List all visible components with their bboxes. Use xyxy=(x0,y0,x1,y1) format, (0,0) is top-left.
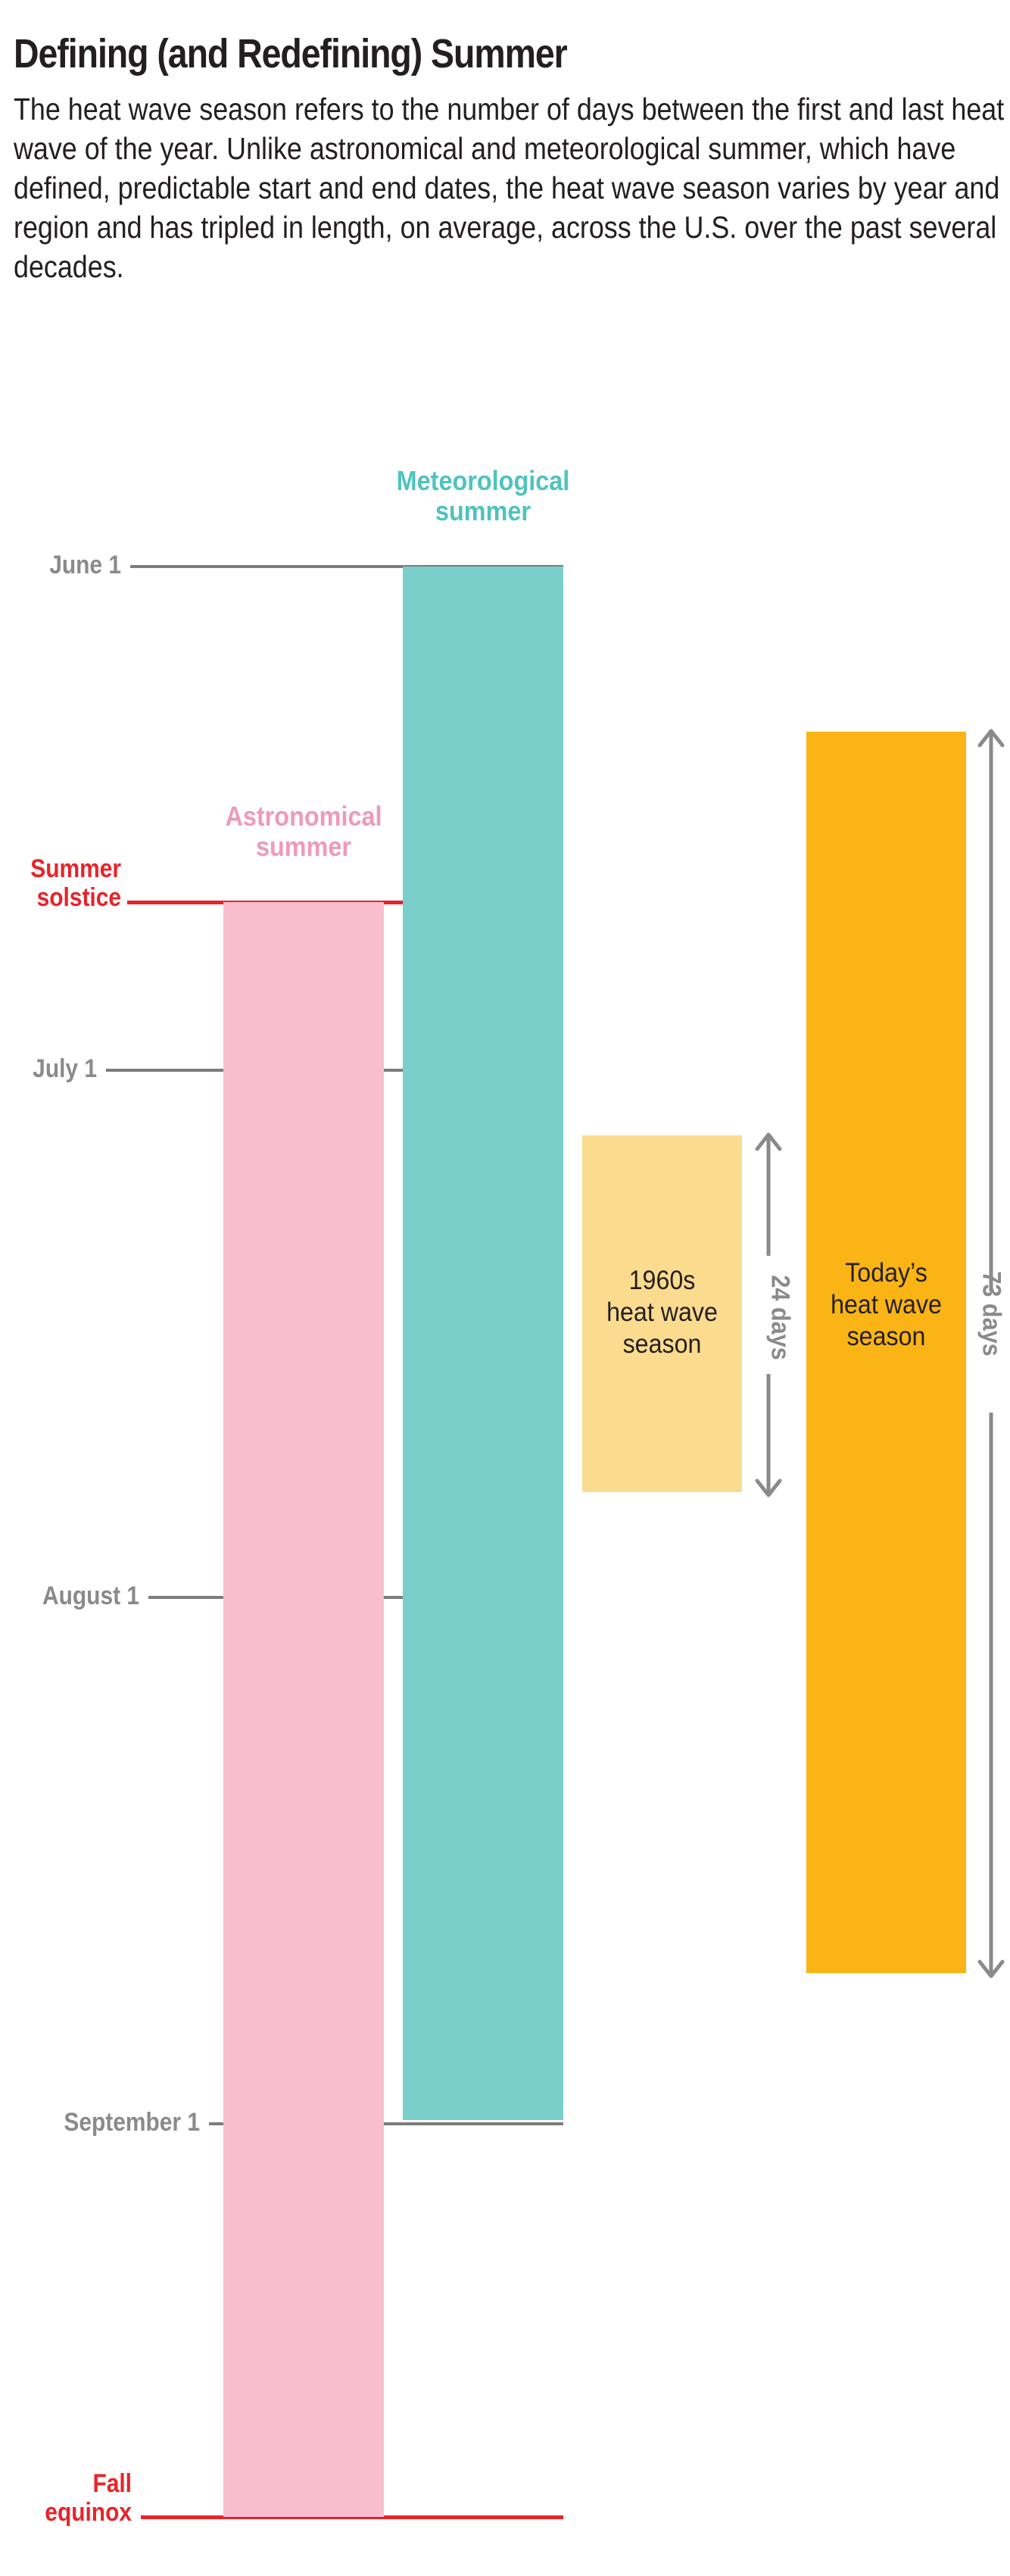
bar-astronomical-summer[interactable] xyxy=(223,902,384,2517)
label-1960s-line1: 1960s xyxy=(629,1266,696,1295)
axis-label-fall-equinox-line2: equinox xyxy=(45,2498,132,2527)
legend-astronomical-line2: summer xyxy=(256,831,351,862)
axis-label-summer-solstice: Summer solstice xyxy=(0,854,121,912)
label-today-line3: season xyxy=(847,1322,926,1351)
label-today-heat-wave-season: Today’s heat wave season xyxy=(812,1257,959,1353)
label-1960s-line2: heat wave xyxy=(606,1297,718,1327)
axis-label-summer-solstice-line2: solstice xyxy=(37,883,121,912)
measure-label-24-days: 24 days xyxy=(765,1263,795,1372)
axis-label-july-1: July 1 xyxy=(0,1054,97,1083)
axis-label-september-1: September 1 xyxy=(14,2108,200,2137)
legend-meteorological-line1: Meteorological xyxy=(397,465,570,496)
legend-astronomical-summer: Astronomical summer xyxy=(195,801,413,862)
axis-label-fall-equinox: Fall equinox xyxy=(0,2469,132,2527)
label-1960s-line3: season xyxy=(623,1329,702,1359)
measure-label-73-days: 73 days xyxy=(977,1260,1006,1369)
legend-meteorological-line2: summer xyxy=(435,495,531,526)
label-1960s-heat-wave-season: 1960s heat wave season xyxy=(588,1265,735,1360)
label-today-line2: heat wave xyxy=(831,1290,942,1319)
label-today-line1: Today’s xyxy=(845,1258,927,1288)
axis-label-fall-equinox-line1: Fall xyxy=(92,2469,132,2498)
chart-plot-area: June 1 Summer solstice July 1 August 1 S… xyxy=(0,0,1010,2576)
axis-label-summer-solstice-line1: Summer xyxy=(30,854,121,883)
bar-meteorological-summer[interactable] xyxy=(403,567,563,2120)
legend-meteorological-summer: Meteorological summer xyxy=(374,466,592,526)
axis-label-august-1: August 1 xyxy=(0,1582,139,1610)
axis-label-june-1: June 1 xyxy=(0,551,121,579)
legend-astronomical-line1: Astronomical xyxy=(225,801,382,832)
